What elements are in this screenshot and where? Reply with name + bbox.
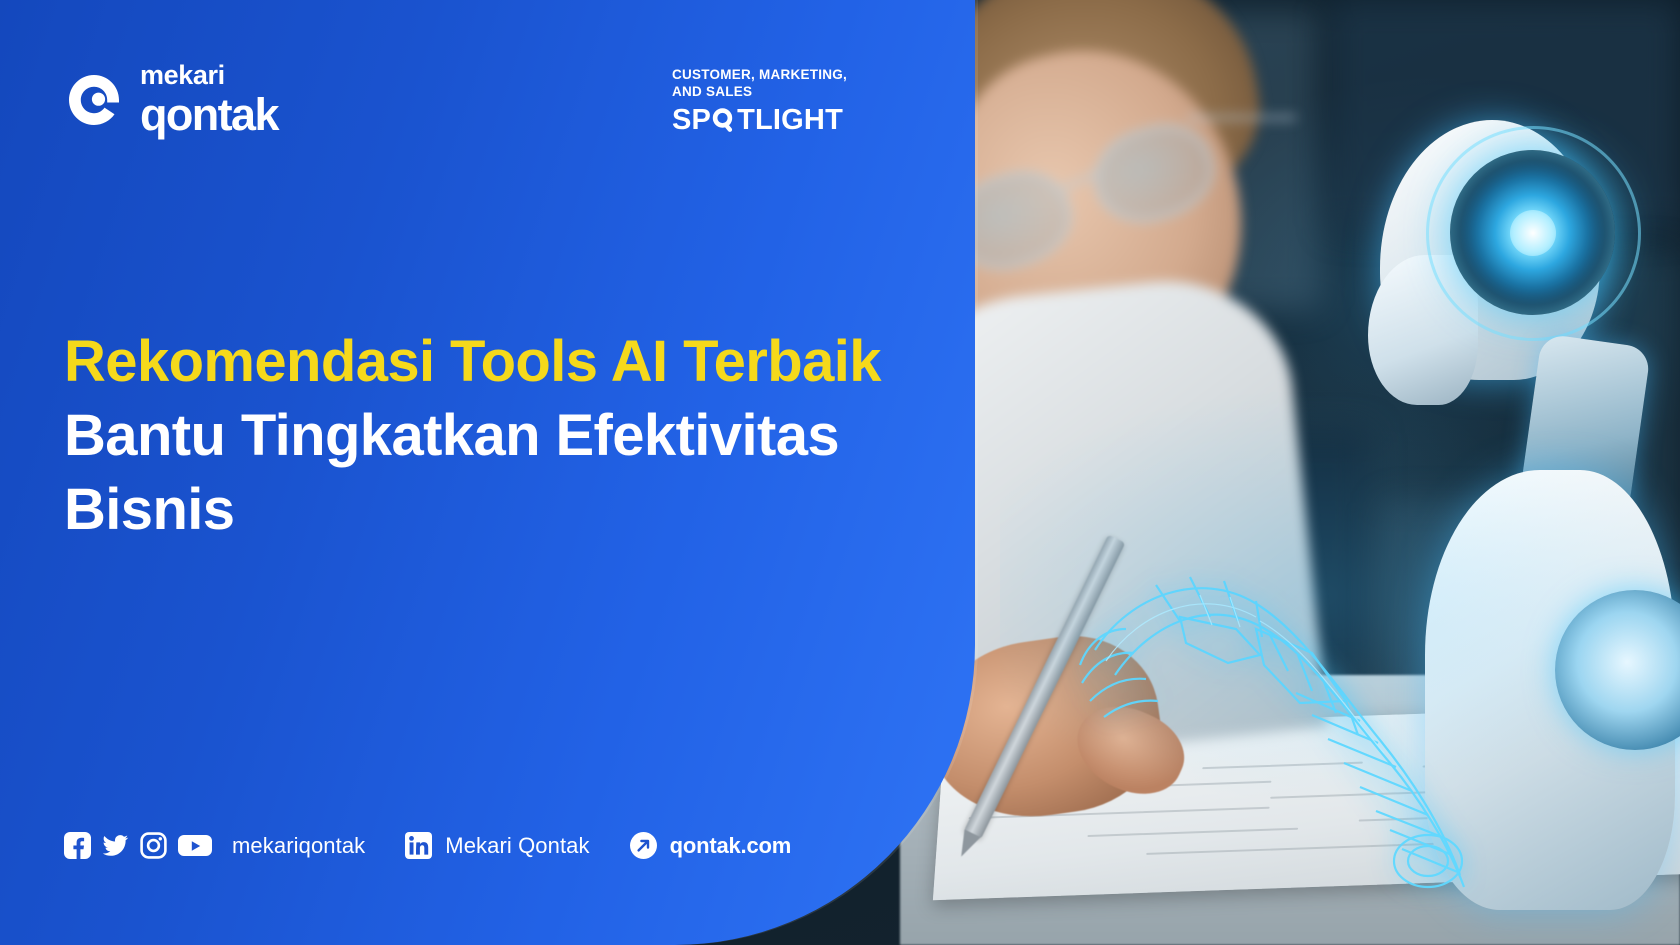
social-handle: mekariqontak	[232, 833, 365, 859]
linkedin-handle: Mekari Qontak	[445, 833, 589, 859]
website-item[interactable]: qontak.com	[630, 832, 791, 859]
spotlight-kicker: CUSTOMER, MARKETING, AND SALES	[672, 66, 902, 101]
social-icon-group: mekariqontak	[64, 832, 365, 859]
brand-logo[interactable]: mekari qontak	[66, 62, 278, 137]
website-url: qontak.com	[670, 833, 791, 859]
spotlight-word-part2: TLIGHT	[737, 106, 843, 135]
twitter-icon[interactable]	[102, 832, 129, 859]
glasses-temple	[1187, 115, 1297, 120]
linkedin-icon[interactable]	[405, 832, 432, 859]
blue-content-panel: mekari qontak CUSTOMER, MARKETING, AND S…	[0, 0, 975, 945]
robot-glowing-eye	[1450, 150, 1615, 315]
slide-canvas: mekari qontak CUSTOMER, MARKETING, AND S…	[0, 0, 1680, 945]
instagram-icon[interactable]	[140, 832, 167, 859]
spotlight-wordmark: SP TLIGHT	[672, 106, 902, 135]
spotlight-word-part1: SP	[672, 106, 711, 135]
headline-line-3: Bisnis	[64, 473, 894, 547]
facebook-icon[interactable]	[64, 832, 91, 859]
mekari-e-mark-icon	[66, 72, 122, 128]
footer-social-bar: mekariqontak Mekari Qontak	[64, 832, 791, 859]
spotlight-lockup: CUSTOMER, MARKETING, AND SALES SP TLIGHT	[672, 66, 902, 135]
holographic-robot-arm	[1060, 525, 1480, 905]
page-title: Rekomendasi Tools AI Terbaik Bantu Tingk…	[64, 325, 894, 548]
headline-line-1: Rekomendasi Tools AI Terbaik	[64, 325, 894, 399]
headline-line-2: Bantu Tingkatkan Efektivitas	[64, 399, 894, 473]
magnifier-o-icon	[712, 108, 736, 132]
brand-name-bottom: qontak	[140, 92, 278, 137]
brand-name-top: mekari	[140, 62, 278, 89]
linkedin-item[interactable]: Mekari Qontak	[405, 832, 589, 859]
spotlight-kicker-line1: CUSTOMER, MARKETING,	[672, 66, 902, 83]
arrow-up-right-circle-icon[interactable]	[630, 832, 657, 859]
brand-wordmark: mekari qontak	[140, 62, 278, 137]
youtube-icon[interactable]	[178, 832, 205, 859]
spotlight-kicker-line2: AND SALES	[672, 83, 902, 100]
